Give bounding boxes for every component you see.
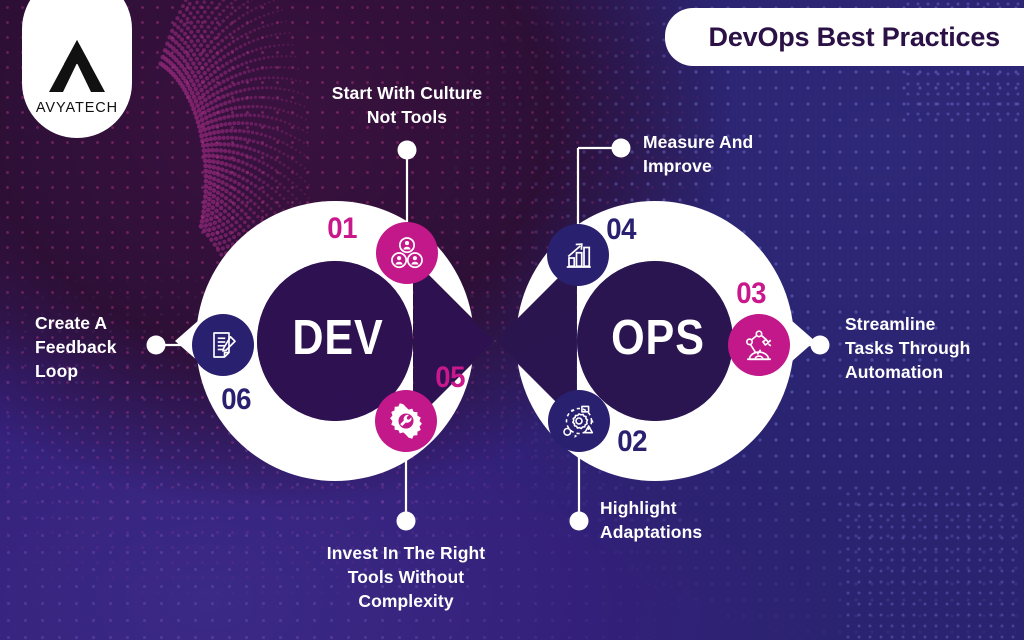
robot-arm-icon: [740, 326, 778, 364]
node-label-05-line2: Tools Without: [291, 565, 521, 589]
node-label-05-line1: Invest In The Right: [291, 541, 521, 565]
node-label-02: Highlight Adaptations: [600, 496, 800, 544]
node-number-04: 04: [606, 213, 636, 247]
node-label-03-line2: Tasks Through: [845, 336, 1020, 360]
node-circle-06[interactable]: [192, 314, 254, 376]
document-pen-icon: [205, 327, 241, 363]
node-label-04-line2: Improve: [643, 154, 863, 178]
connector-dot-02: [570, 512, 589, 531]
node-label-02-line2: Adaptations: [600, 520, 800, 544]
logo-wordmark: AVYATECH: [36, 100, 118, 116]
node-number-02: 02: [617, 425, 647, 459]
node-number-01: 01: [327, 212, 357, 246]
node-label-06: Create A Feedback Loop: [35, 311, 155, 383]
gear-orbit-shapes-icon: [559, 401, 599, 441]
node-circle-05[interactable]: [375, 390, 437, 452]
node-number-06: 06: [221, 383, 251, 417]
title-banner: DevOps Best Practices: [665, 8, 1024, 66]
node-label-06-line3: Loop: [35, 359, 155, 383]
node-circle-03[interactable]: [728, 314, 790, 376]
node-label-01-line1: Start With Culture: [292, 81, 522, 105]
logo-badge: AVYATECH: [22, 0, 132, 138]
node-label-03-line3: Automation: [845, 360, 1020, 384]
node-circle-04[interactable]: [547, 224, 609, 286]
node-label-06-line1: Create A: [35, 311, 155, 335]
node-number-03: 03: [736, 277, 766, 311]
node-circle-01[interactable]: [376, 222, 438, 284]
connector-dot-05: [397, 512, 416, 531]
connector-dot-04: [612, 139, 631, 158]
people-group-icon: [388, 234, 426, 272]
connector-dot-03: [811, 336, 830, 355]
node-label-05-line3: Complexity: [291, 589, 521, 613]
infographic-canvas: AVYATECH DevOps Best Practices: [0, 0, 1024, 640]
node-label-03-line1: Streamline: [845, 312, 1020, 336]
node-label-01-line2: Not Tools: [292, 105, 522, 129]
node-label-04-line1: Measure And: [643, 130, 863, 154]
loop-label-ops: OPS: [588, 310, 729, 366]
loop-label-dev: DEV: [268, 310, 409, 366]
node-label-02-line1: Highlight: [600, 496, 800, 520]
node-label-04: Measure And Improve: [643, 130, 863, 178]
bar-chart-growth-icon: [560, 237, 596, 273]
page-title: DevOps Best Practices: [709, 22, 1000, 53]
node-number-05: 05: [435, 361, 465, 395]
node-label-06-line2: Feedback: [35, 335, 155, 359]
node-label-01: Start With Culture Not Tools: [292, 81, 522, 129]
node-label-03: Streamline Tasks Through Automation: [845, 312, 1020, 384]
chevron-a-icon: [46, 38, 108, 94]
node-circle-02[interactable]: [548, 390, 610, 452]
gear-wrench-icon: [387, 402, 425, 440]
node-label-05: Invest In The Right Tools Without Comple…: [291, 541, 521, 613]
connector-dot-01: [398, 141, 417, 160]
